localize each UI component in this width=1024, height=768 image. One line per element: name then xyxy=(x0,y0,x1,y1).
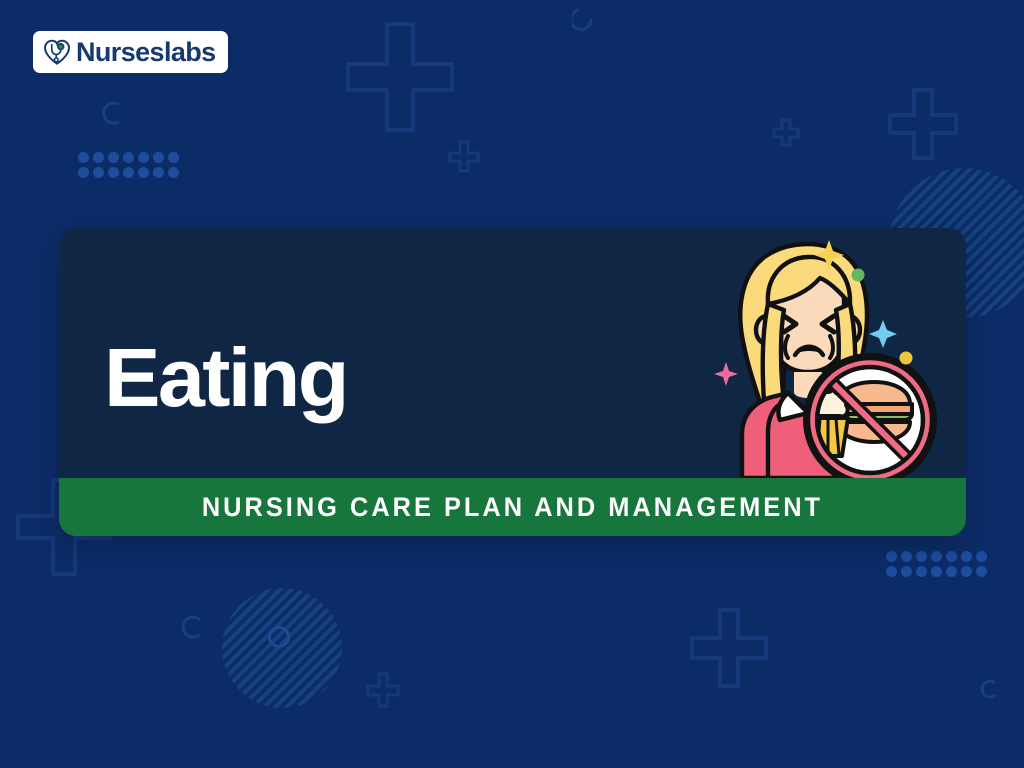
card-body: Eating Disorders xyxy=(59,228,966,478)
crescent-icon xyxy=(978,678,1000,705)
subtitle-banner: NURSING CARE PLAN AND MANAGEMENT xyxy=(59,478,966,536)
plus-icon xyxy=(772,118,800,147)
slide-canvas: Nurseslabs Eating Disorders xyxy=(0,0,1024,768)
nurseslabs-logo[interactable]: Nurseslabs xyxy=(33,31,228,73)
crescent-icon xyxy=(572,8,596,37)
plus-icon xyxy=(888,88,958,160)
crescent-icon xyxy=(180,614,206,645)
plus-icon xyxy=(366,672,400,708)
striped-circle-decoration xyxy=(222,588,342,708)
page-title-line-1: Eating xyxy=(104,339,475,418)
subtitle-banner-label: NURSING CARE PLAN AND MANAGEMENT xyxy=(202,492,823,523)
title-card: Eating Disorders xyxy=(59,228,966,536)
crying-girl-no-food-illustration xyxy=(710,228,940,478)
plus-icon xyxy=(690,608,768,688)
ring-icon xyxy=(268,626,290,648)
plus-icon xyxy=(346,22,454,132)
crescent-icon xyxy=(98,100,124,131)
dot-grid-decoration xyxy=(886,551,987,577)
logo-wordmark: Nurseslabs xyxy=(76,39,216,66)
dot-grid-decoration xyxy=(78,152,179,178)
heart-stethoscope-icon xyxy=(42,37,72,67)
plus-icon xyxy=(448,140,480,173)
